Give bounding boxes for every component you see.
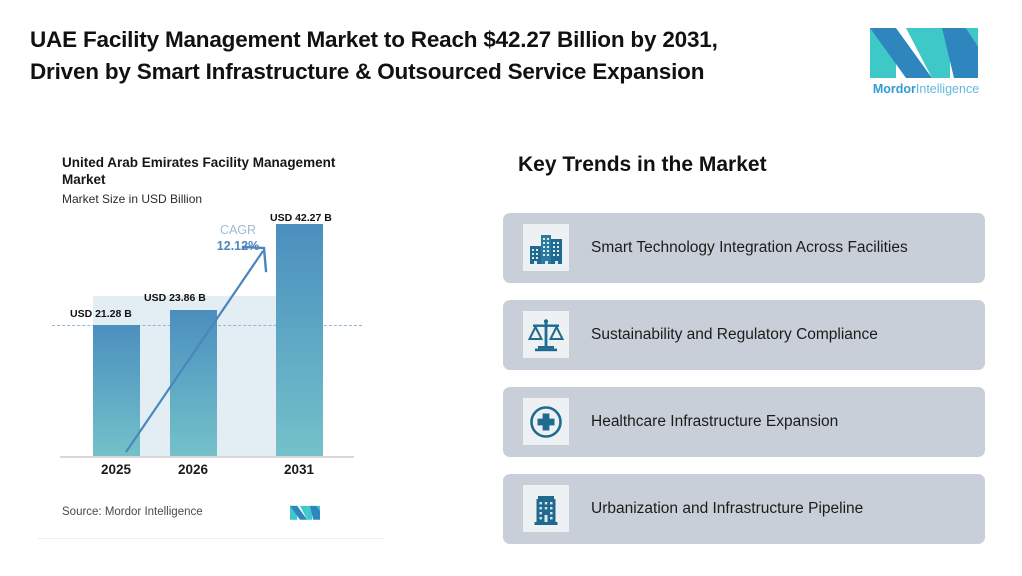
cagr-value-text: 12.12% bbox=[198, 238, 278, 254]
brand-name-primary: Mordor bbox=[873, 82, 916, 96]
mordor-m-logo-icon bbox=[870, 22, 978, 78]
x-tick-2026: 2026 bbox=[148, 462, 238, 477]
list-item-label: Smart Technology Integration Across Faci… bbox=[591, 213, 971, 283]
mordor-m-logo-icon bbox=[290, 504, 320, 521]
list-item[interactable]: Urbanization and Infrastructure Pipeline bbox=[503, 474, 985, 544]
list-item[interactable]: Smart Technology Integration Across Faci… bbox=[503, 213, 985, 283]
chart-subtitle: Market Size in USD Billion bbox=[62, 192, 202, 206]
brand-name-secondary: Intelligence bbox=[916, 82, 979, 96]
list-item[interactable]: Sustainability and Regulatory Compliance bbox=[503, 300, 985, 370]
office-tower-icon bbox=[523, 485, 569, 532]
cagr-label-text: CAGR bbox=[198, 222, 278, 238]
page-title-line-2: Driven by Smart Infrastructure & Outsour… bbox=[30, 56, 830, 88]
chart-source: Source: Mordor Intelligence bbox=[62, 506, 203, 518]
page-title: UAE Facility Management Market to Reach … bbox=[30, 24, 830, 88]
balance-scales-icon bbox=[523, 311, 569, 358]
list-item[interactable]: Healthcare Infrastructure Expansion bbox=[503, 387, 985, 457]
trends-heading: Key Trends in the Market bbox=[518, 153, 767, 177]
market-size-chart: United Arab Emirates Facility Management… bbox=[30, 140, 390, 548]
list-item-label: Urbanization and Infrastructure Pipeline bbox=[591, 474, 971, 544]
chart-plot-area: USD 21.28 B USD 23.86 B USD 42.27 B CAGR… bbox=[30, 224, 390, 512]
bar-label-2031: USD 42.27 B bbox=[270, 212, 332, 224]
chart-bottom-divider bbox=[38, 538, 384, 539]
page-title-line-1: UAE Facility Management Market to Reach … bbox=[30, 27, 718, 52]
x-tick-2031: 2031 bbox=[254, 462, 344, 477]
medical-cross-circle-icon bbox=[523, 398, 569, 445]
list-item-label: Healthcare Infrastructure Expansion bbox=[591, 387, 971, 457]
city-buildings-icon bbox=[523, 224, 569, 271]
brand-wordmark: MordorIntelligence bbox=[862, 82, 990, 96]
chart-title: United Arab Emirates Facility Management… bbox=[62, 154, 362, 188]
list-item-label: Sustainability and Regulatory Compliance bbox=[591, 300, 971, 370]
page-header: UAE Facility Management Market to Reach … bbox=[0, 0, 1022, 118]
trends-list: Smart Technology Integration Across Faci… bbox=[503, 213, 985, 561]
brand-logo: MordorIntelligence bbox=[862, 22, 990, 102]
cagr-annotation: CAGR 12.12% bbox=[198, 222, 278, 254]
